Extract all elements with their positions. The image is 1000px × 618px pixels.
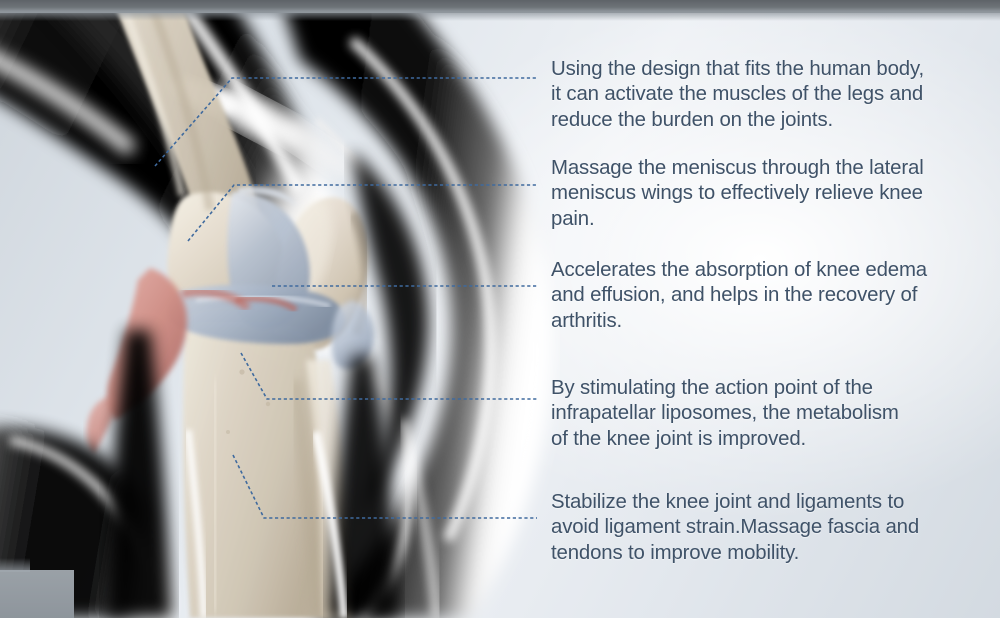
infographic-canvas: Using the design that fits the human bod…: [0, 0, 1000, 618]
callout-3-line-2: and effusion, and helps in the recovery …: [551, 283, 993, 308]
callout-1-line-3: reduce the burden on the joints.: [551, 108, 993, 133]
callout-5-line-1: Stabilize the knee joint and ligaments t…: [551, 490, 993, 515]
callout-2-line-3: pain.: [551, 207, 993, 232]
callout-text-4: By stimulating the action point of the i…: [551, 376, 993, 452]
callout-text-1: Using the design that fits the human bod…: [551, 57, 993, 133]
callout-1-line-2: it can activate the muscles of the legs …: [551, 82, 993, 107]
callout-3-line-1: Accelerates the absorption of knee edema: [551, 258, 993, 283]
callout-text-5: Stabilize the knee joint and ligaments t…: [551, 490, 993, 566]
callout-text-column: Using the design that fits the human bod…: [551, 0, 1000, 618]
tibia-bone: [183, 309, 330, 618]
callout-4-line-3: of the knee joint is improved.: [551, 427, 993, 452]
callout-2-line-2: meniscus wings to effectively relieve kn…: [551, 181, 993, 206]
callout-text-3: Accelerates the absorption of knee edema…: [551, 258, 993, 334]
callout-text-2: Massage the meniscus through the lateral…: [551, 156, 993, 232]
callout-4-line-1: By stimulating the action point of the: [551, 376, 993, 401]
bottom-left-band-fade: [0, 558, 30, 572]
callout-5-line-3: tendons to improve mobility.: [551, 541, 993, 566]
callout-4-line-2: infrapatellar liposomes, the metabolism: [551, 401, 993, 426]
callout-1-line-1: Using the design that fits the human bod…: [551, 57, 993, 82]
bottom-left-band: [0, 570, 74, 618]
callout-2-line-1: Massage the meniscus through the lateral: [551, 156, 993, 181]
top-band-fade: [0, 11, 1000, 21]
callout-5-line-2: avoid ligament strain.Massage fascia and: [551, 515, 993, 540]
knee-anatomy-illustration: [0, 0, 560, 618]
callout-3-line-3: arthritis.: [551, 309, 993, 334]
